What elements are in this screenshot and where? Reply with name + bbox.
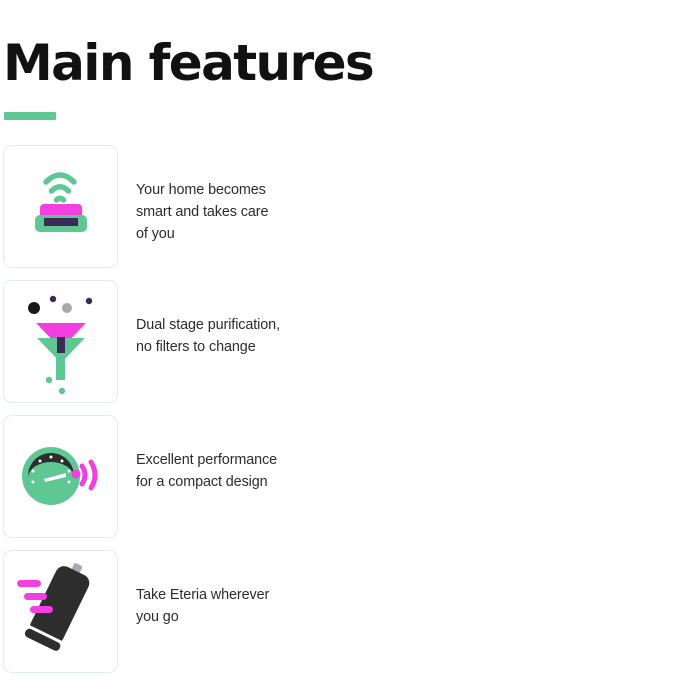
feature-icon-card	[3, 550, 118, 673]
device-motion-icon	[4, 551, 117, 672]
feature-icon-card	[3, 280, 118, 403]
feature-item-portable-eteria[interactable]: Take Eteria wherever you go	[0, 550, 366, 685]
feature-item-app-control[interactable]: Control your air and change the mode wit…	[366, 280, 680, 415]
feature-item-silent-low-power[interactable]: Silent and low power consumption	[366, 415, 680, 550]
features-grid: Your home becomes smart and takes care o…	[0, 145, 680, 676]
feature-text: Excellent performance for a compact desi…	[118, 415, 366, 493]
feature-text: Take Eteria wherever you go	[118, 550, 366, 628]
wifi-sofa-icon	[4, 146, 117, 267]
accent-bar	[4, 112, 56, 120]
feature-item-dual-stage-purification[interactable]: Dual stage purification, no filters to c…	[0, 280, 366, 415]
main-features-page: Main features Your home beco	[0, 0, 680, 676]
feature-text: Dual stage purification, no filters to c…	[118, 280, 366, 358]
feature-icon-card	[3, 415, 118, 538]
feature-item-smart-home[interactable]: Your home becomes smart and takes care o…	[0, 145, 366, 280]
feature-icon-card	[3, 145, 118, 268]
feature-item-high-quality-sensors[interactable]: High-quality sensors Temperature, Humidi…	[366, 145, 680, 280]
feature-item-smart-activation[interactable]: Smart activation when it detects polluta…	[366, 550, 680, 685]
gauge-icon	[4, 416, 117, 537]
feature-text: Your home becomes smart and takes care o…	[118, 145, 366, 245]
page-title: Main features	[3, 34, 373, 92]
feature-item-excellent-performance[interactable]: Excellent performance for a compact desi…	[0, 415, 366, 550]
double-funnel-icon	[4, 281, 117, 402]
